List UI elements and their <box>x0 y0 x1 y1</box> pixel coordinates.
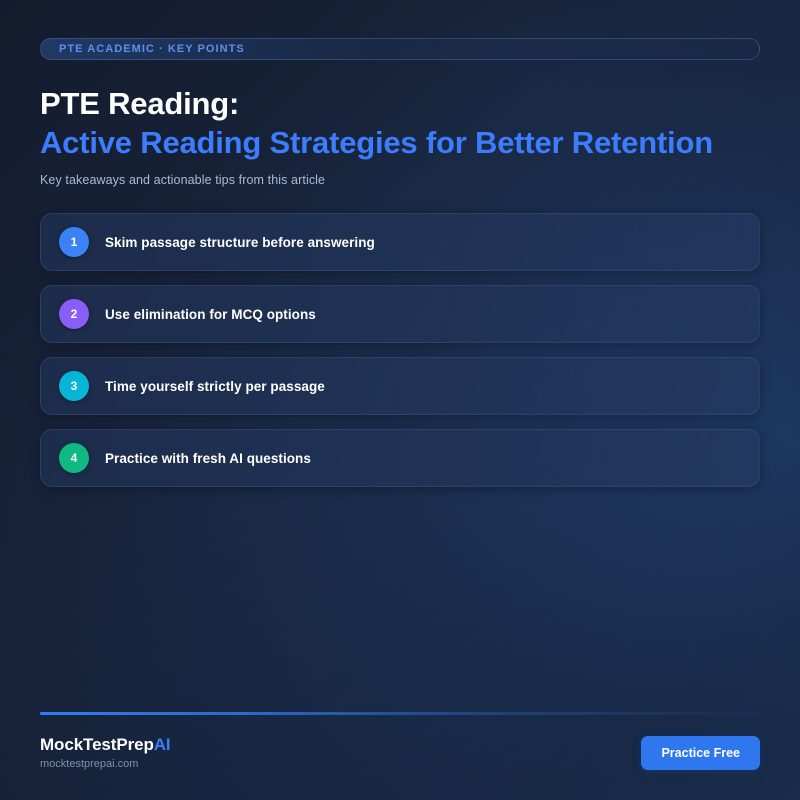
point-number-badge: 4 <box>59 443 89 473</box>
brand-name-main: MockTestPrep <box>40 735 154 754</box>
point-text: Use elimination for MCQ options <box>105 307 316 322</box>
list-item[interactable]: 3 Time yourself strictly per passage <box>40 357 760 415</box>
page-subtitle: Key takeaways and actionable tips from t… <box>40 173 760 187</box>
footer-divider <box>40 712 760 715</box>
point-text: Skim passage structure before answering <box>105 235 375 250</box>
point-number-badge: 3 <box>59 371 89 401</box>
point-number-badge: 1 <box>59 227 89 257</box>
page-title-primary: PTE Reading: <box>40 86 760 123</box>
practice-free-button[interactable]: Practice Free <box>641 736 760 770</box>
list-item[interactable]: 1 Skim passage structure before answerin… <box>40 213 760 271</box>
footer: MockTestPrepAI mocktestprepai.com Practi… <box>40 712 760 770</box>
kicker-label: PTE ACADEMIC · KEY POINTS <box>59 43 245 55</box>
brand-block: MockTestPrepAI mocktestprepai.com <box>40 735 171 770</box>
page-title-secondary: Active Reading Strategies for Better Ret… <box>40 125 760 162</box>
list-item[interactable]: 2 Use elimination for MCQ options <box>40 285 760 343</box>
list-item[interactable]: 4 Practice with fresh AI questions <box>40 429 760 487</box>
brand-name-accent: AI <box>154 735 171 754</box>
infographic-page: PTE ACADEMIC · KEY POINTS PTE Reading: A… <box>0 0 800 800</box>
brand-url: mocktestprepai.com <box>40 758 171 770</box>
key-points-list: 1 Skim passage structure before answerin… <box>40 213 760 487</box>
point-text: Practice with fresh AI questions <box>105 451 311 466</box>
point-text: Time yourself strictly per passage <box>105 379 325 394</box>
brand-name: MockTestPrepAI <box>40 735 171 755</box>
kicker-badge: PTE ACADEMIC · KEY POINTS <box>40 38 760 60</box>
point-number-badge: 2 <box>59 299 89 329</box>
footer-row: MockTestPrepAI mocktestprepai.com Practi… <box>40 735 760 770</box>
